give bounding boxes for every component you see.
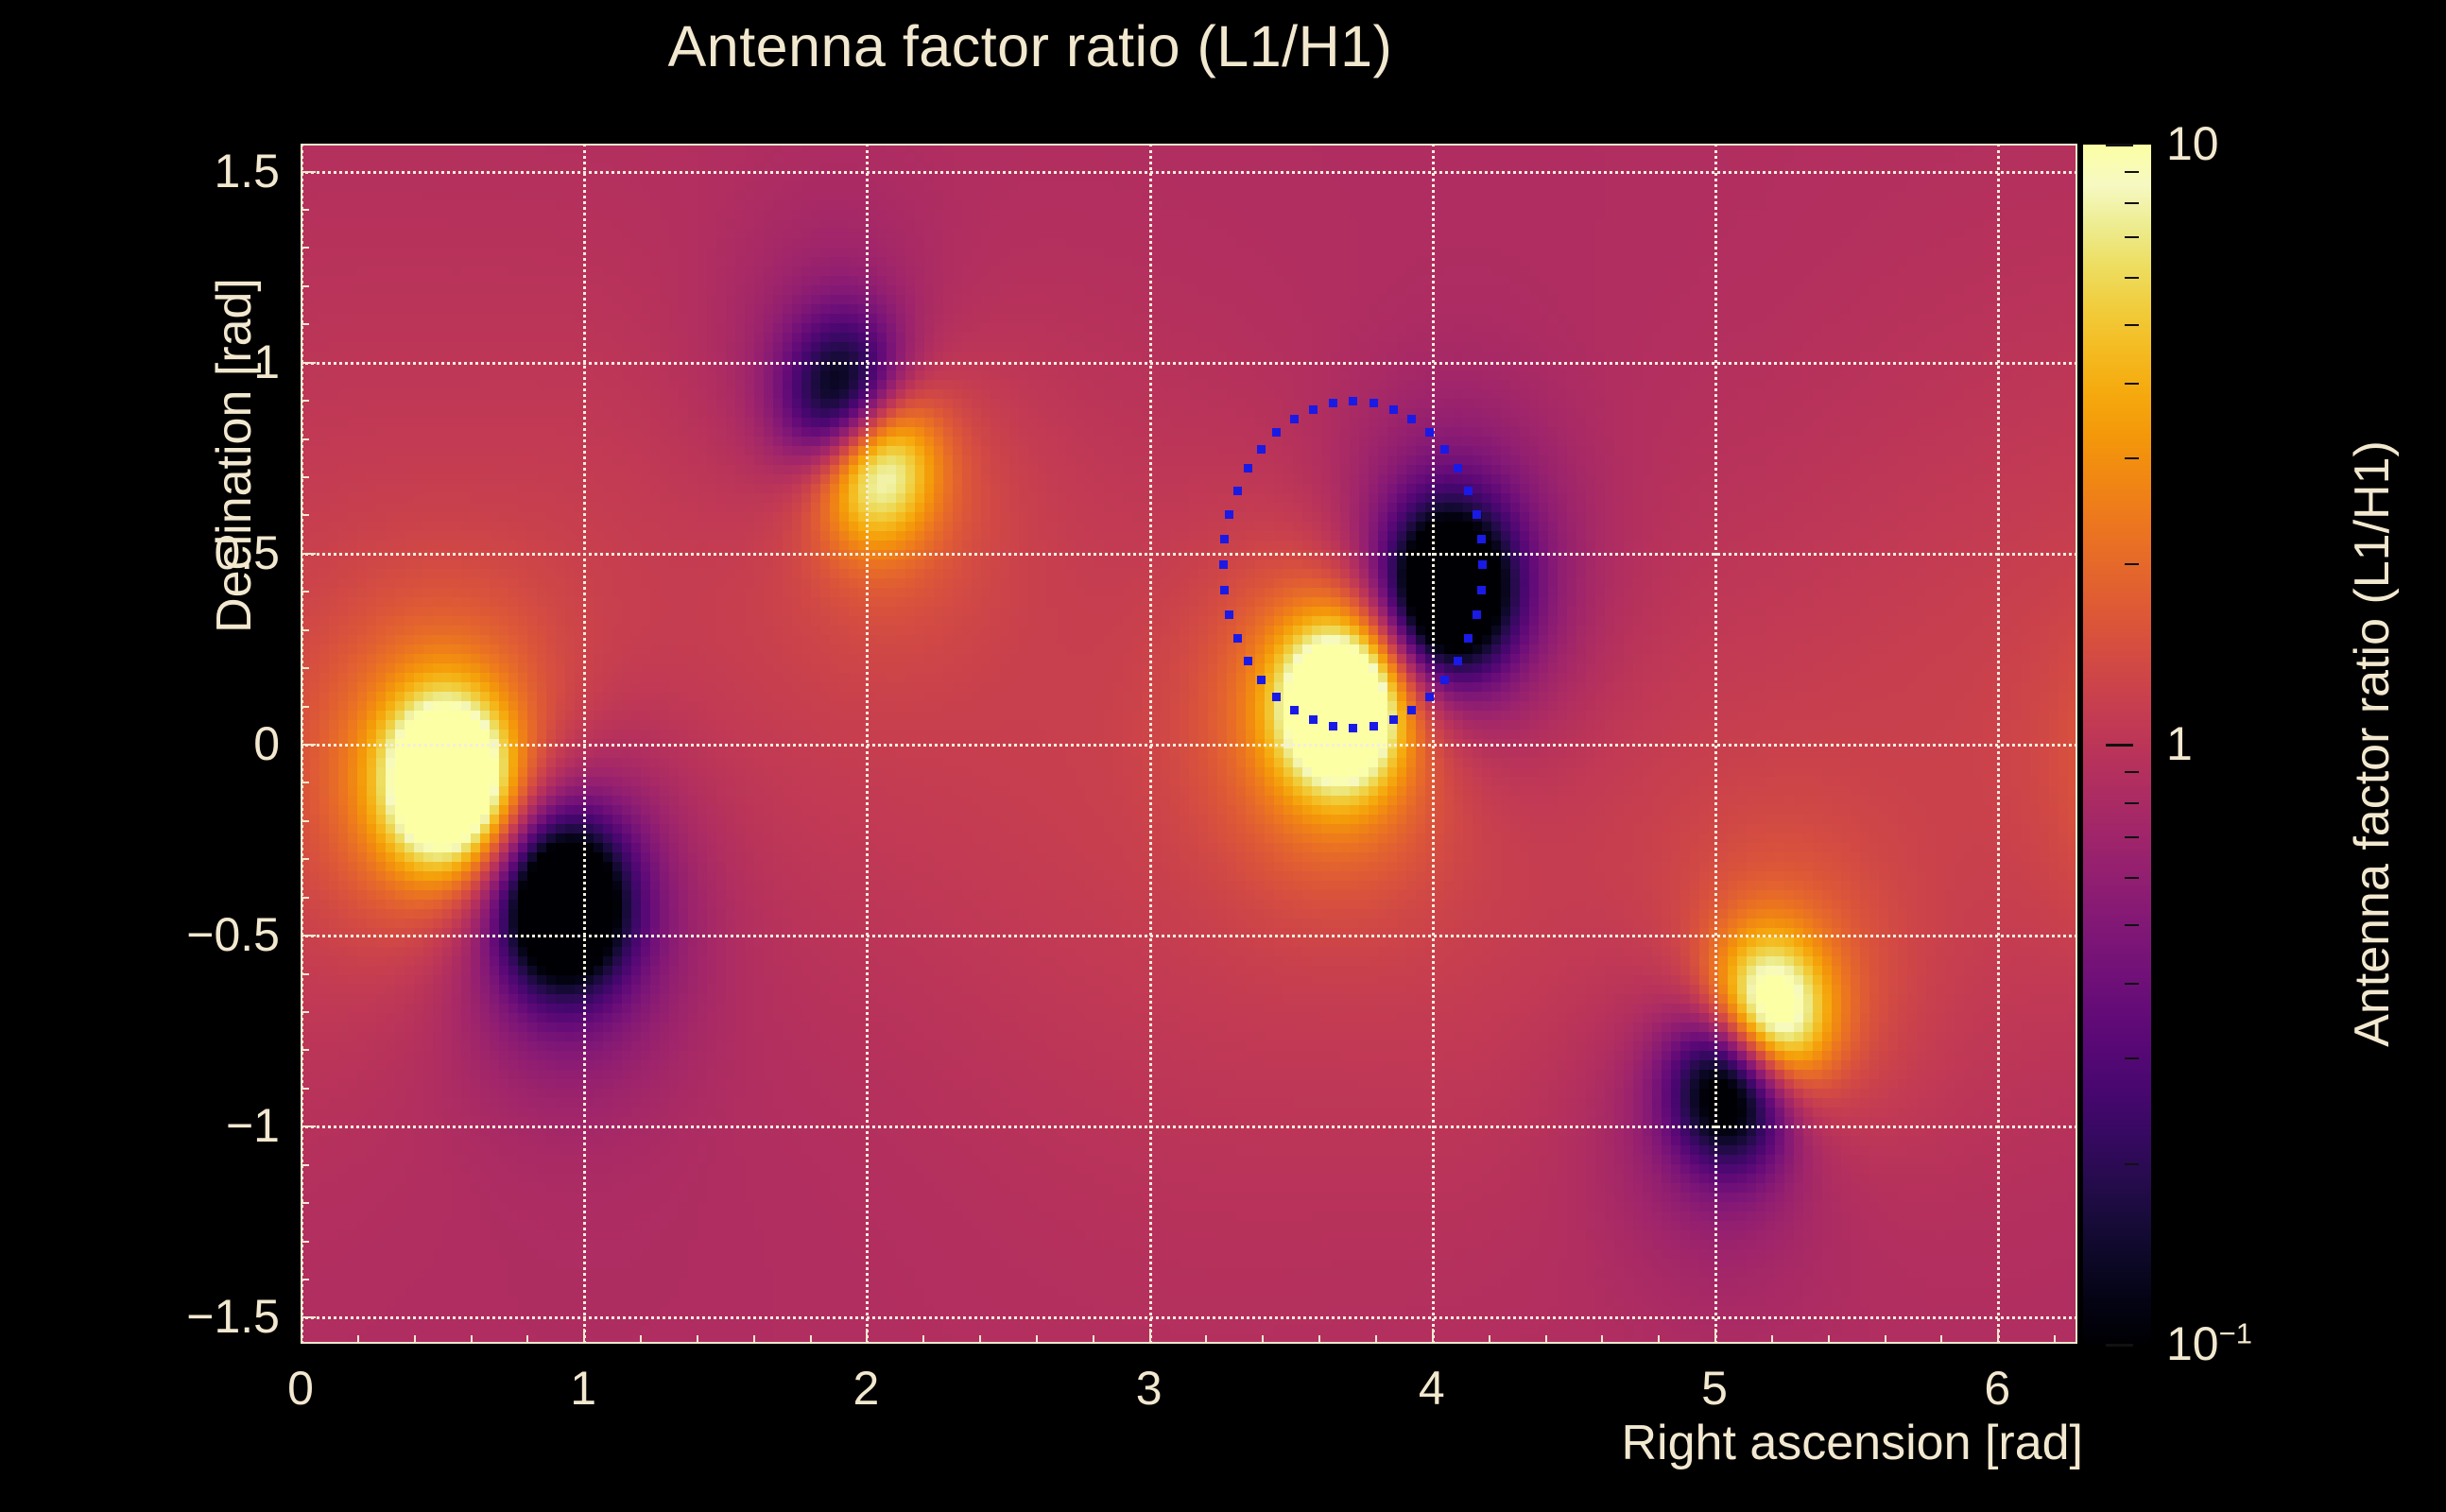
colorbar-tick-label: 10 <box>2166 116 2219 171</box>
x-tick-label: 1 <box>570 1361 596 1416</box>
y-axis-title-text: Declination [rad] <box>206 278 263 633</box>
x-tick-minor <box>1489 1335 1490 1344</box>
x-tick-minor <box>471 1335 473 1344</box>
x-tick-minor <box>1828 1335 1830 1344</box>
colorbar-tick-minor <box>2125 457 2139 459</box>
x-tick-minor <box>753 1335 755 1344</box>
x-tick-minor <box>979 1335 981 1344</box>
colorbar-tick-label: 10−1 <box>2166 1316 2252 1371</box>
colorbar-title-text: Antenna factor ratio (L1/H1) <box>2344 440 2401 1047</box>
colorbar-tick-minor <box>2125 277 2139 279</box>
colorbar-tick-minor <box>2125 236 2139 238</box>
x-tick-minor <box>1601 1335 1603 1344</box>
colorbar-tick-minor <box>2125 563 2139 565</box>
colorbar-tick-minor <box>2125 802 2139 804</box>
colorbar-tick-label: 1 <box>2166 716 2193 771</box>
x-axis-title: Right ascension [rad] <box>1622 1415 2084 1471</box>
x-tick-minor <box>1093 1335 1094 1344</box>
x-tick-label: 6 <box>1984 1361 2010 1416</box>
x-tick-minor <box>810 1335 812 1344</box>
figure-root: Antenna factor ratio (L1/H1) 0123456 −1.… <box>0 0 2446 1512</box>
x-tick-minor <box>1318 1335 1320 1344</box>
x-tick-minor <box>414 1335 416 1344</box>
x-tick-major <box>1149 1329 1151 1344</box>
x-tick-major <box>1714 1329 1716 1344</box>
x-tick-minor <box>1545 1335 1547 1344</box>
colorbar-tick-minor <box>2125 202 2139 204</box>
x-tick-minor <box>1375 1335 1377 1344</box>
colorbar-tick-minor <box>2125 171 2139 173</box>
x-tick-major <box>1997 1329 1999 1344</box>
y-axis-title: Declination [rad] <box>57 144 412 1344</box>
colorbar-tick-minor <box>2125 383 2139 385</box>
x-tick-major <box>1432 1329 1434 1344</box>
colorbar-tick-minor <box>2125 836 2139 838</box>
x-tick-minor <box>697 1335 698 1344</box>
x-tick-minor <box>1658 1335 1660 1344</box>
colorbar-tick-minor <box>2125 983 2139 985</box>
page-title: Antenna factor ratio (L1/H1) <box>0 13 2060 79</box>
x-tick-label: 2 <box>853 1361 880 1416</box>
x-tick-minor <box>1205 1335 1207 1344</box>
heatmap-plot-area[interactable] <box>301 144 2077 1344</box>
colorbar-title: Antenna factor ratio (L1/H1) <box>2334 144 2410 1344</box>
x-tick-major <box>583 1329 585 1344</box>
x-tick-minor <box>1940 1335 1942 1344</box>
colorbar-tick-minor <box>2125 771 2139 773</box>
x-tick-minor <box>1885 1335 1886 1344</box>
x-tick-minor <box>640 1335 642 1344</box>
x-tick-label: 0 <box>287 1361 314 1416</box>
x-tick-minor <box>922 1335 924 1344</box>
x-tick-label: 4 <box>1419 1361 1445 1416</box>
x-tick-label: 3 <box>1136 1361 1163 1416</box>
x-tick-minor <box>1036 1335 1038 1344</box>
colorbar-tick-minor <box>2125 924 2139 926</box>
x-tick-minor <box>526 1335 528 1344</box>
colorbar-tick-minor <box>2125 324 2139 326</box>
colorbar-tick-major <box>2106 744 2133 747</box>
colorbar-tick-major <box>2106 1344 2133 1347</box>
heatmap-image <box>301 144 2077 1344</box>
x-tick-major <box>866 1329 868 1344</box>
colorbar-tick-minor <box>2125 1163 2139 1165</box>
colorbar-tick-minor <box>2125 1057 2139 1059</box>
x-tick-minor <box>2054 1335 2056 1344</box>
colorbar-tick-major <box>2106 144 2133 146</box>
x-tick-label: 5 <box>1701 1361 1728 1416</box>
colorbar-tick-minor <box>2125 877 2139 879</box>
x-tick-minor <box>1262 1335 1264 1344</box>
x-tick-minor <box>1771 1335 1773 1344</box>
